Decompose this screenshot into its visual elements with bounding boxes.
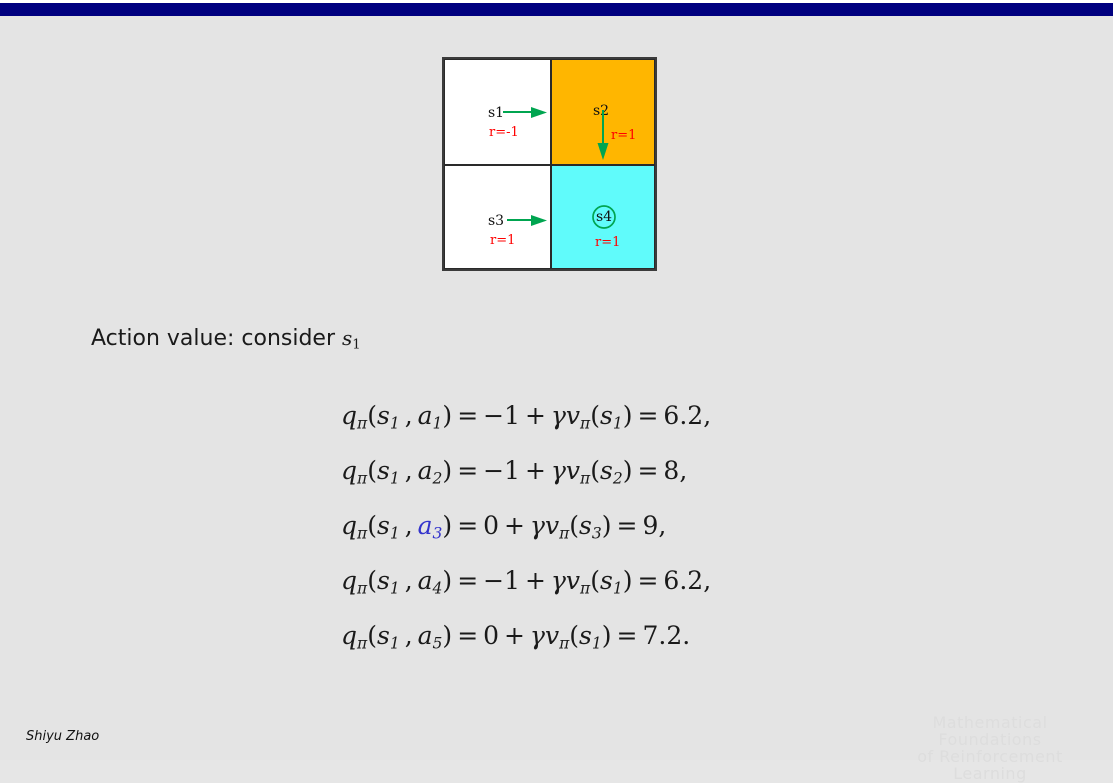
equation-row: qπ(s1,a3)=0+γvπ(s3)=9, — [0, 508, 1113, 563]
eq-arg-action: a — [418, 621, 433, 650]
equation-row: qπ(s1,a2)=−1+γvπ(s2)=8, — [0, 453, 1113, 508]
eq-arg-state-sub: 1 — [390, 525, 400, 543]
eq-value-fn: v — [566, 456, 580, 485]
eq-terminator: , — [658, 511, 666, 540]
heading-prefix-text: Action value: consider — [91, 326, 342, 351]
state-label-s1: s1 — [488, 106, 504, 120]
eq-operator: + — [499, 621, 530, 650]
eq-operator: + — [520, 566, 551, 595]
gridworld-cell-s4: s4 r=1 — [551, 165, 655, 269]
eq-value-state-sub: 2 — [613, 470, 623, 488]
reward-label-s4: r=1 — [595, 236, 620, 249]
eq-value-state-sub: 3 — [592, 525, 602, 543]
eq-arg-action-sub: 4 — [433, 580, 443, 598]
eq-value-state: s — [579, 621, 592, 650]
eq-value-state: s — [600, 401, 613, 430]
eq-arg-action-highlighted: a — [418, 511, 433, 540]
eq-policy-subscript: π — [357, 635, 367, 653]
gridworld-diagram: s1 r=-1 s2 r=1 s3 r=1 — [442, 57, 657, 271]
eq-value-state: s — [600, 566, 613, 595]
eq-policy-subscript: π — [357, 470, 367, 488]
eq-fn: q — [341, 566, 357, 595]
eq-discount: γ — [551, 456, 566, 485]
eq-operator: + — [520, 401, 551, 430]
eq-discount: γ — [551, 401, 566, 430]
eq-arg-state-sub: 1 — [390, 635, 400, 653]
eq-value-fn: v — [545, 621, 559, 650]
eq-policy-subscript: π — [357, 580, 367, 598]
watermark-line-2: of Reinforcement Learning — [885, 748, 1095, 782]
eq-discount: γ — [530, 621, 545, 650]
eq-result: 7.2 — [642, 621, 682, 650]
eq-arg-state-sub: 1 — [390, 580, 400, 598]
eq-terminator: . — [682, 621, 690, 650]
gridworld-cell-s3: s3 r=1 — [444, 165, 551, 269]
eq-terminator: , — [703, 566, 711, 595]
eq-discount: γ — [530, 511, 545, 540]
eq-terminator: , — [679, 456, 687, 485]
eq-arg-action-sub: 1 — [433, 415, 443, 433]
eq-value-policy: π — [580, 415, 590, 433]
eq-terminator: , — [703, 401, 711, 430]
gridworld-cell-s1: s1 r=-1 — [444, 59, 551, 165]
eq-value-policy: π — [580, 470, 590, 488]
eq-discount: γ — [551, 566, 566, 595]
eq-result: 9 — [642, 511, 658, 540]
footer-author: Shiyu Zhao — [26, 729, 99, 744]
eq-value-state-sub: 1 — [613, 580, 623, 598]
eq-arg-state: s — [377, 401, 390, 430]
eq-result: 6.2 — [663, 401, 703, 430]
eq-value-state: s — [600, 456, 613, 485]
state-label-s3: s3 — [488, 214, 504, 228]
eq-operator: + — [520, 456, 551, 485]
eq-value-state-sub: 1 — [592, 635, 602, 653]
slide-topbar — [0, 3, 1113, 16]
watermark-line-1: Mathematical Foundations — [885, 714, 1095, 748]
state-label-s2: s2 — [593, 104, 609, 118]
eq-reward: −1 — [483, 401, 520, 430]
eq-reward: −1 — [483, 566, 520, 595]
heading-state-letter: s — [342, 326, 352, 350]
eq-value-fn: v — [566, 401, 580, 430]
eq-arg-action-sub: 5 — [433, 635, 443, 653]
eq-value-policy: π — [559, 525, 569, 543]
equation-list: qπ(s1,a1)=−1+γvπ(s1)=6.2, qπ(s1,a2)=−1+γ… — [0, 398, 1113, 673]
eq-operator: + — [499, 511, 530, 540]
slide-canvas: s1 r=-1 s2 r=1 s3 r=1 — [0, 0, 1113, 760]
eq-fn: q — [341, 456, 357, 485]
arrow-right-icon-s3 — [507, 214, 551, 228]
eq-arg-state-sub: 1 — [390, 470, 400, 488]
reward-label-s1: r=-1 — [489, 126, 519, 139]
reward-label-s2: r=1 — [611, 129, 636, 142]
arrow-right-icon-s1 — [503, 106, 551, 120]
eq-arg-action-sub: 2 — [433, 470, 443, 488]
eq-arg-state: s — [377, 566, 390, 595]
heading-state-subscript: 1 — [352, 338, 360, 353]
eq-value-fn: v — [545, 511, 559, 540]
eq-arg-action: a — [418, 566, 433, 595]
eq-result: 6.2 — [663, 566, 703, 595]
eq-value-state-sub: 1 — [613, 415, 623, 433]
eq-arg-action: a — [418, 401, 433, 430]
watermark-logo: Mathematical Foundations of Reinforcemen… — [885, 714, 1095, 748]
eq-reward: 0 — [483, 621, 499, 650]
eq-arg-state: s — [377, 456, 390, 485]
eq-value-state: s — [579, 511, 592, 540]
page-title: Action value: consider s1 — [91, 326, 361, 353]
eq-arg-action: a — [418, 456, 433, 485]
eq-policy-subscript: π — [357, 415, 367, 433]
eq-arg-state-sub: 1 — [390, 415, 400, 433]
reward-label-s3: r=1 — [490, 234, 515, 247]
eq-arg-state: s — [377, 621, 390, 650]
eq-reward: −1 — [483, 456, 520, 485]
eq-value-policy: π — [580, 580, 590, 598]
state-label-s4: s4 — [596, 210, 612, 224]
eq-value-fn: v — [566, 566, 580, 595]
equation-row: qπ(s1,a1)=−1+γvπ(s1)=6.2, — [0, 398, 1113, 453]
eq-fn: q — [341, 511, 357, 540]
eq-policy-subscript: π — [357, 525, 367, 543]
eq-reward: 0 — [483, 511, 499, 540]
eq-fn: q — [341, 401, 357, 430]
eq-result: 8 — [663, 456, 679, 485]
eq-arg-state: s — [377, 511, 390, 540]
heading-state-symbol: s1 — [342, 326, 361, 350]
equation-row: qπ(s1,a4)=−1+γvπ(s1)=6.2, — [0, 563, 1113, 618]
eq-arg-action-sub-highlighted: 3 — [433, 525, 443, 543]
gridworld-cell-s2: s2 r=1 — [551, 59, 655, 165]
eq-value-policy: π — [559, 635, 569, 653]
equation-row: qπ(s1,a5)=0+γvπ(s1)=7.2. — [0, 618, 1113, 673]
eq-fn: q — [341, 621, 357, 650]
